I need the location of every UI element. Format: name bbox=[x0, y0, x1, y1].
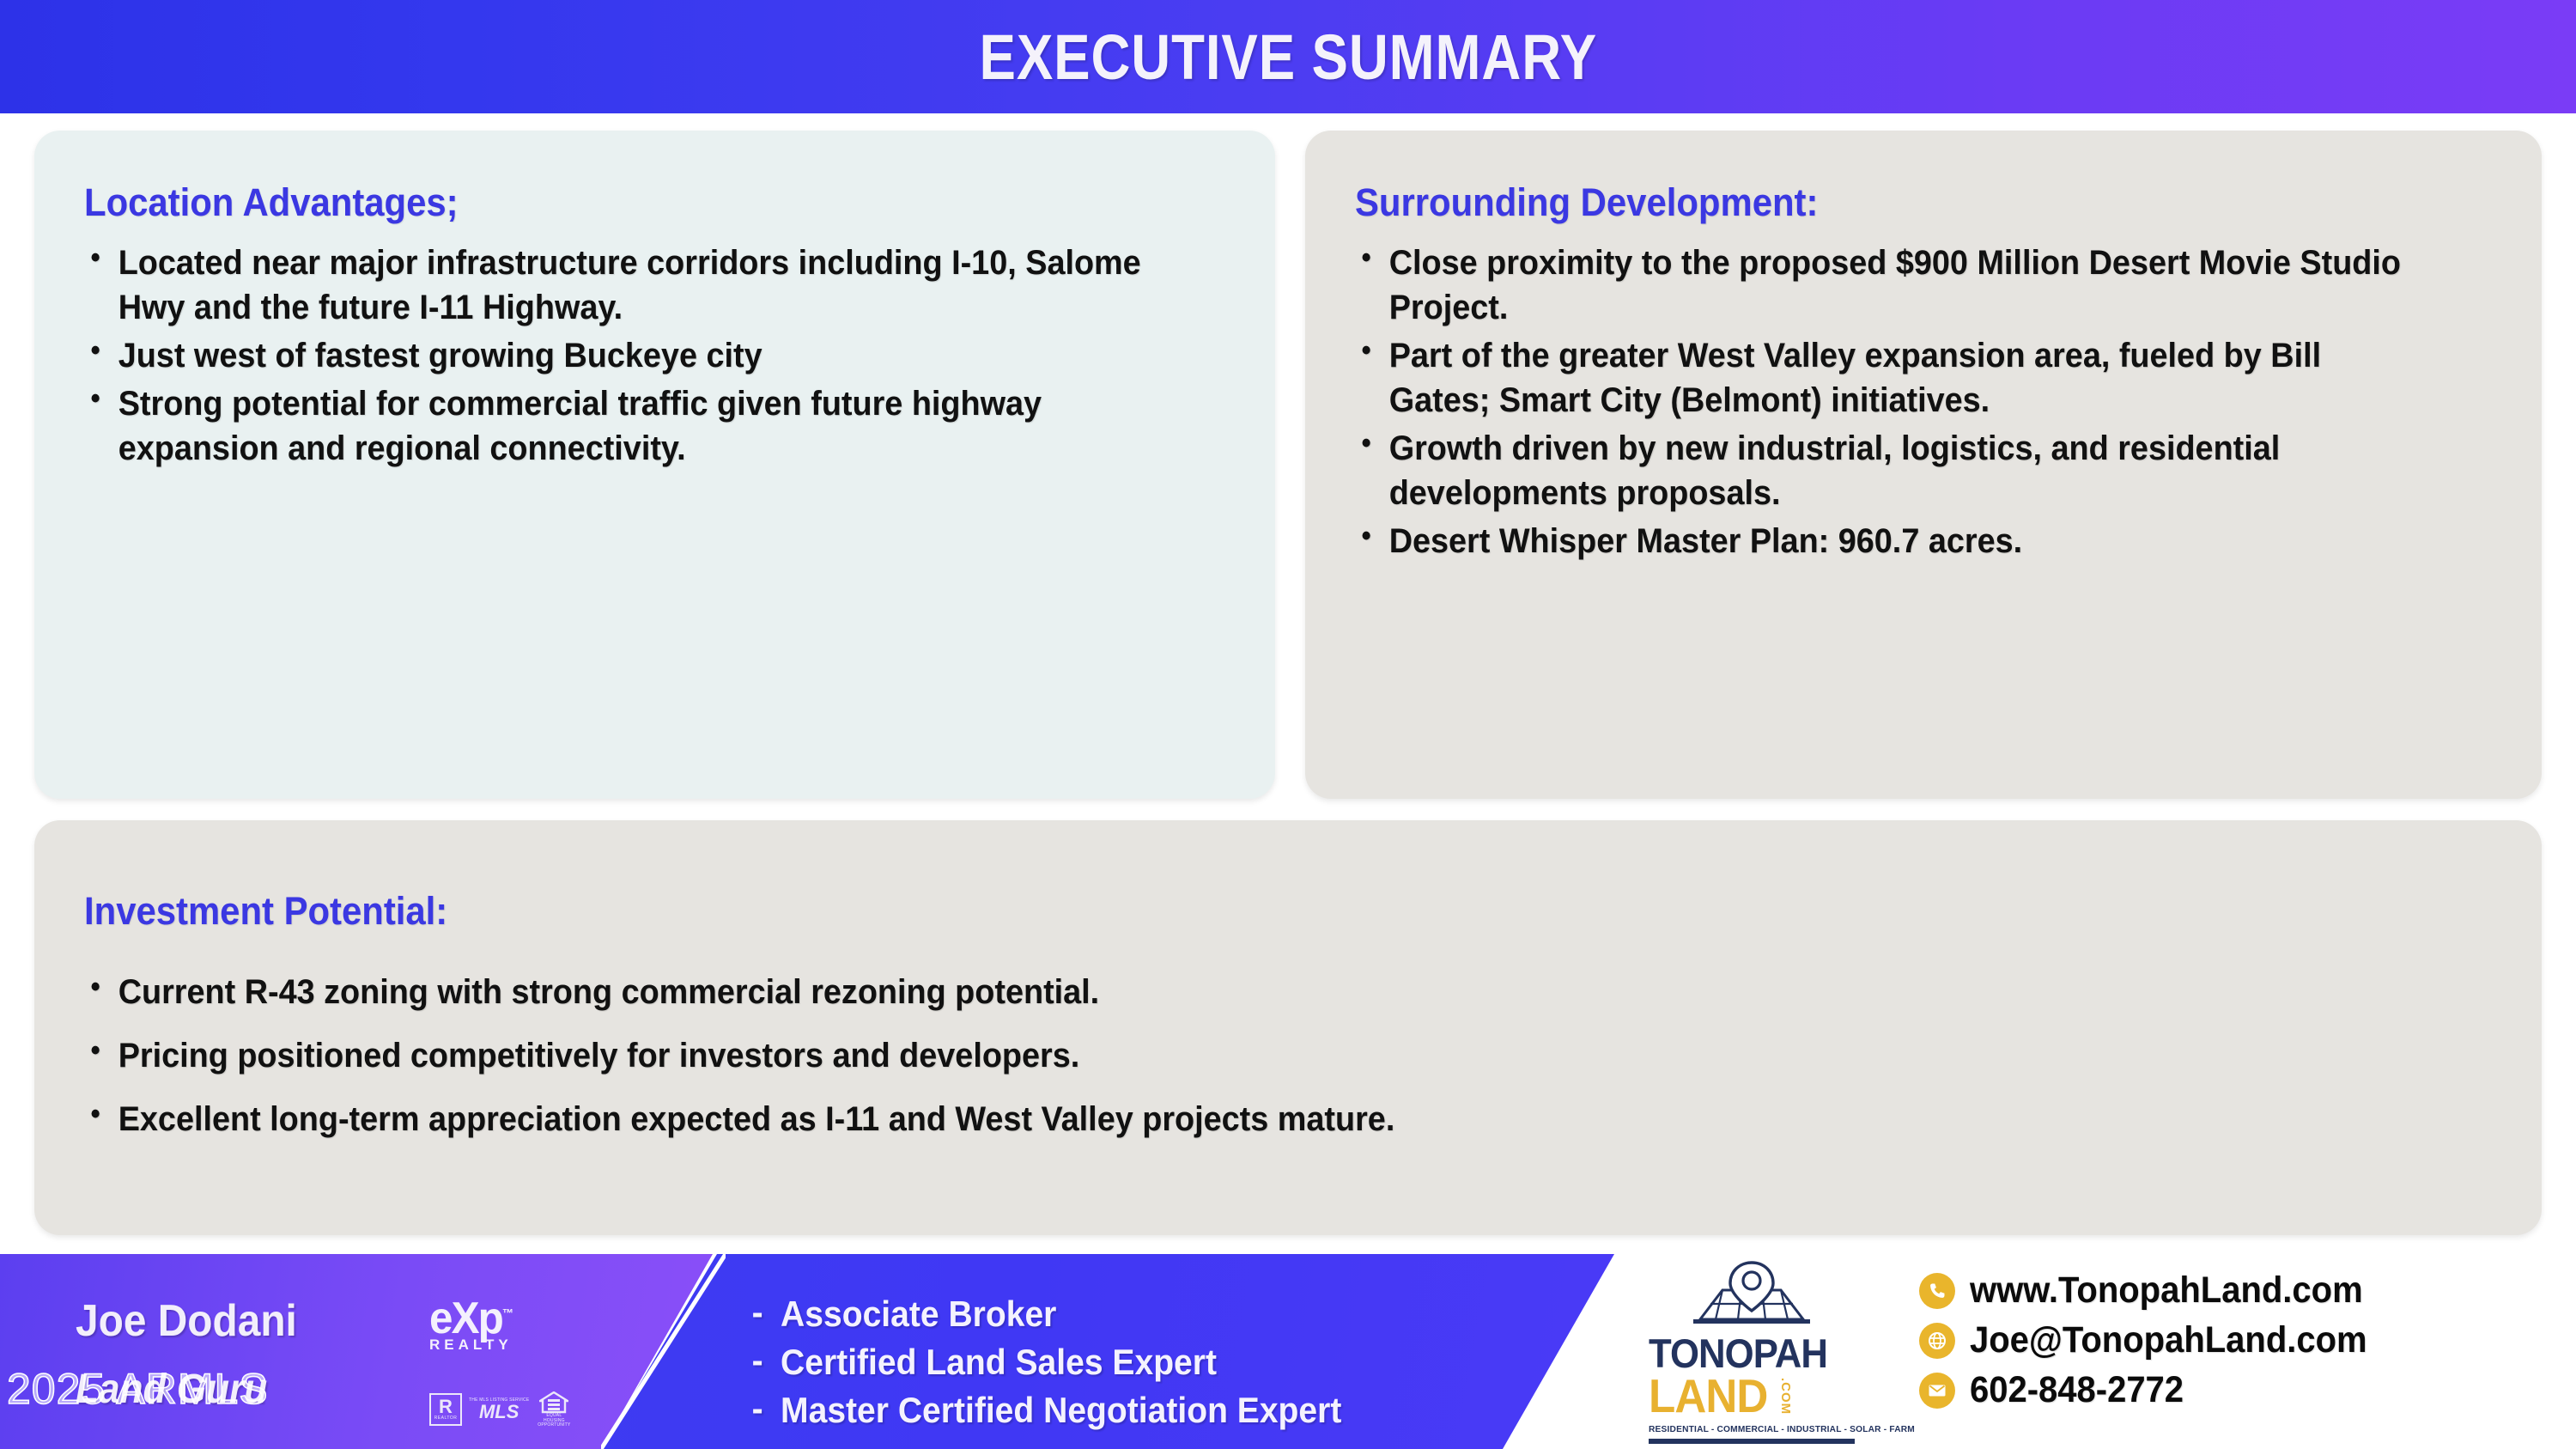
house-icon bbox=[539, 1391, 568, 1414]
contact-website: www.TonopahLand.com bbox=[1970, 1269, 2363, 1312]
list-item: Master Certified Negotiation Expert bbox=[747, 1386, 1341, 1434]
executive-summary-slide: EXECUTIVE SUMMARY Location Advantages; L… bbox=[0, 0, 2576, 1449]
card-surrounding-development: Surrounding Development: Close proximity… bbox=[1305, 131, 2542, 799]
logo-row-land: LAND .COM bbox=[1649, 1373, 1855, 1418]
logo-word-land: LAND bbox=[1649, 1373, 1767, 1418]
contact-phone: 602-848-2772 bbox=[1970, 1369, 2184, 1411]
exp-realty-logo: eXp™ REALTY bbox=[429, 1299, 567, 1373]
list-item: Excellent long-term appreciation expecte… bbox=[84, 1097, 2358, 1142]
exp-wordmark: eXp™ bbox=[429, 1299, 560, 1340]
list-item: Growth driven by new industrial, logisti… bbox=[1355, 426, 2427, 515]
footer-agent-panel bbox=[0, 1254, 713, 1449]
contact-row-email[interactable]: Joe@TonopahLand.com bbox=[1919, 1319, 2397, 1361]
logo-tagline: RESIDENTIAL - COMMERCIAL - INDUSTRIAL - … bbox=[1649, 1424, 1849, 1434]
agent-name: Joe Dodani bbox=[76, 1295, 297, 1347]
mls-badge-icon: THE MLS LISTING SERVICE MLS bbox=[469, 1397, 529, 1422]
equal-housing-badge-icon: EQUAL HOUSING OPPORTUNITY bbox=[536, 1391, 572, 1428]
bullet-list-investment: Current R-43 zoning with strong commerci… bbox=[84, 970, 2490, 1142]
page-header: EXECUTIVE SUMMARY bbox=[0, 0, 2576, 113]
list-item: Pricing positioned competitively for inv… bbox=[84, 1033, 2358, 1078]
contact-list: www.TonopahLand.com Joe@TonopahLand.com bbox=[1919, 1269, 2397, 1419]
list-item: Desert Whisper Master Plan: 960.7 acres. bbox=[1355, 519, 2427, 563]
compliance-badges: R REALTOR THE MLS LISTING SERVICE MLS EQ… bbox=[429, 1391, 572, 1428]
map-pin-graphic bbox=[1649, 1256, 1855, 1335]
list-item: Close proximity to the proposed $900 Mil… bbox=[1355, 240, 2427, 330]
list-item: Current R-43 zoning with strong commerci… bbox=[84, 970, 2358, 1014]
credentials-list: Associate Broker Certified Land Sales Ex… bbox=[747, 1290, 1386, 1434]
logo-dotcom: .COM bbox=[1778, 1378, 1793, 1415]
list-item: Strong potential for commercial traffic … bbox=[84, 381, 1161, 471]
envelope-icon bbox=[1919, 1373, 1955, 1409]
contact-row-website[interactable]: www.TonopahLand.com bbox=[1919, 1269, 2397, 1312]
globe-icon bbox=[1919, 1323, 1955, 1359]
card-investment-potential: Investment Potential: Current R-43 zonin… bbox=[34, 820, 2542, 1235]
card-heading-surrounding: Surrounding Development: bbox=[1355, 180, 2410, 225]
bullet-list-location: Located near major infrastructure corrid… bbox=[84, 240, 1224, 471]
mls-wordmark: MLS bbox=[479, 1403, 519, 1422]
armls-watermark: 2025 ARMLS bbox=[7, 1364, 269, 1414]
trademark-icon: ™ bbox=[502, 1306, 513, 1320]
contact-row-phone[interactable]: 602-848-2772 bbox=[1919, 1369, 2397, 1411]
phone-icon bbox=[1919, 1273, 1955, 1309]
list-item: Certified Land Sales Expert bbox=[747, 1338, 1341, 1386]
exp-wordmark-text: eXp bbox=[429, 1294, 502, 1343]
card-location-advantages: Location Advantages; Located near major … bbox=[34, 131, 1275, 799]
card-heading-investment: Investment Potential: bbox=[84, 889, 2322, 934]
realtor-letter: R bbox=[439, 1398, 453, 1416]
bullet-list-surrounding: Close proximity to the proposed $900 Mil… bbox=[1355, 240, 2490, 563]
list-item: Part of the greater West Valley expansio… bbox=[1355, 333, 2427, 423]
page-title: EXECUTIVE SUMMARY bbox=[979, 21, 1596, 94]
realtor-badge-icon: R REALTOR bbox=[429, 1393, 462, 1426]
card-heading-location: Location Advantages; bbox=[84, 180, 1144, 225]
realtor-caption: REALTOR bbox=[434, 1416, 458, 1421]
list-item: Just west of fastest growing Buckeye cit… bbox=[84, 333, 1161, 378]
contact-email: Joe@TonopahLand.com bbox=[1970, 1319, 2367, 1361]
eho-caption-line2: OPPORTUNITY bbox=[538, 1423, 570, 1428]
logo-word-tonopah: TONOPAH bbox=[1649, 1335, 1840, 1373]
tonopahland-logo: TONOPAH LAND .COM RESIDENTIAL - COMMERCI… bbox=[1649, 1256, 1855, 1446]
list-item: Associate Broker bbox=[747, 1290, 1341, 1338]
map-pin-icon bbox=[1649, 1256, 1855, 1335]
logo-underline bbox=[1649, 1439, 1855, 1444]
list-item: Located near major infrastructure corrid… bbox=[84, 240, 1161, 330]
